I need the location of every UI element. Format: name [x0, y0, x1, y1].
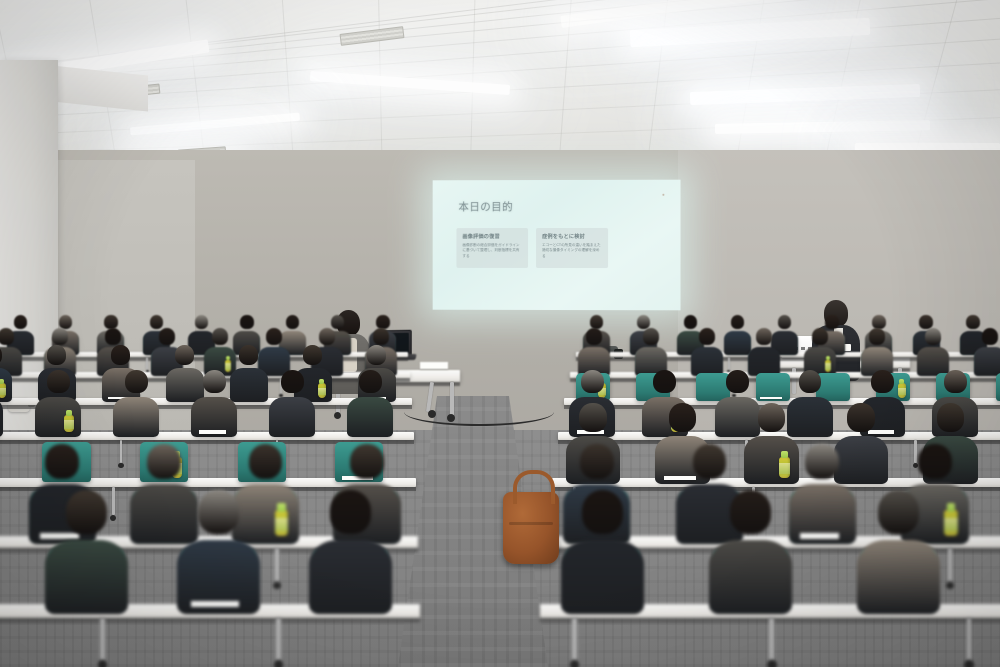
- table-leg: [572, 618, 577, 660]
- audience-head: [66, 490, 108, 533]
- audience-head: [799, 370, 822, 394]
- paper-sheet: [420, 362, 448, 369]
- audience-torso: [230, 368, 268, 402]
- audience-torso: [787, 397, 833, 437]
- table-leg: [120, 440, 123, 463]
- audience-head: [982, 328, 998, 345]
- audience-head: [869, 328, 885, 345]
- slide-card: 画像評価の復習 画像診断の総合評価をガイドラインに基づいて整理し、判断指標を共有…: [456, 228, 528, 268]
- audience-torso: [35, 397, 81, 437]
- table-wheel: [570, 660, 580, 667]
- table-leg: [112, 487, 115, 514]
- audience-head: [367, 345, 386, 365]
- seminar-room-photo: 本日の目的 画像評価の復習 画像診断の総合評価をガイドラインに基づいて整理し、判…: [0, 0, 1000, 667]
- audience-head: [944, 370, 967, 394]
- audience-head: [175, 345, 194, 365]
- audience-torso: [691, 347, 723, 376]
- audience-head: [590, 315, 604, 329]
- audience-torso: [45, 540, 128, 614]
- table-leg: [967, 618, 972, 660]
- table-wheel: [98, 660, 108, 667]
- audience-head: [239, 345, 258, 365]
- audience-head: [14, 315, 28, 329]
- audience-head: [919, 315, 933, 329]
- audience-head: [373, 328, 389, 345]
- audience-head: [730, 490, 772, 533]
- green-tea-bottle: [825, 356, 831, 372]
- table-wheel: [964, 660, 974, 667]
- audience-head: [579, 403, 606, 431]
- audience-head: [59, 315, 73, 329]
- table-leg: [769, 618, 774, 660]
- audience-head: [331, 315, 345, 329]
- green-tea-bottle: [318, 379, 326, 398]
- audience-head: [286, 315, 300, 329]
- table-wheel: [946, 582, 954, 590]
- handout-paper: [664, 476, 696, 480]
- table-wheel: [767, 660, 777, 667]
- audience-torso: [724, 331, 751, 355]
- audience-torso: [166, 368, 204, 402]
- audience-head: [693, 444, 727, 479]
- audience-head: [582, 490, 624, 533]
- audience-head: [52, 328, 68, 345]
- audience-head: [937, 403, 964, 431]
- slide-card-heading: 症例をもとに検討: [542, 233, 585, 240]
- audience-torso: [744, 436, 799, 484]
- table-leg: [100, 618, 105, 660]
- table-leg: [728, 357, 730, 371]
- audience-head: [643, 328, 659, 345]
- handout-paper: [868, 430, 894, 434]
- green-tea-bottle: [64, 410, 73, 432]
- audience-torso: [347, 397, 393, 437]
- audience-head: [47, 345, 66, 365]
- audience-head: [195, 315, 209, 329]
- audience-head: [303, 345, 322, 365]
- green-tea-bottle: [944, 503, 957, 536]
- green-tea-bottle: [0, 379, 6, 398]
- audience-head: [104, 315, 118, 329]
- audience-head: [47, 370, 70, 394]
- audience-torso: [834, 436, 889, 484]
- audience-head: [281, 370, 304, 394]
- table-wheel: [274, 660, 284, 667]
- audience-head: [726, 370, 749, 394]
- green-tea-bottle: [225, 356, 231, 372]
- slide-title: 本日の目的: [458, 199, 513, 214]
- audience-torso: [974, 347, 1000, 376]
- audience-head: [159, 328, 175, 345]
- table-wheel: [273, 582, 281, 590]
- audience-torso: [561, 540, 644, 614]
- table-leg: [948, 548, 952, 582]
- slide-card-body: 画像診断の総合評価をガイドラインに基づいて整理し、判断指標を共有する: [462, 243, 522, 259]
- audience-head: [266, 328, 282, 345]
- audience-head: [580, 444, 614, 479]
- audience-head: [756, 328, 772, 345]
- audience-head: [684, 315, 698, 329]
- audience-head: [918, 444, 952, 479]
- table-leg: [914, 440, 917, 463]
- audience-head: [111, 345, 130, 365]
- audience-head: [586, 328, 602, 345]
- audience-head: [198, 490, 240, 533]
- audience-head: [805, 444, 839, 479]
- table-wheel: [447, 414, 455, 422]
- handout-paper: [800, 533, 839, 538]
- audience-head: [249, 444, 283, 479]
- projected-slide: 本日の目的 画像評価の復習 画像診断の総合評価をガイドラインに基づいて整理し、判…: [433, 180, 681, 311]
- audience-head: [699, 328, 715, 345]
- green-tea-bottle: [275, 503, 288, 536]
- table-leg: [450, 382, 454, 416]
- slide-card-body: エコーとCTの所見の違いを踏まえた適切な撮像タイミングの理解を深める: [542, 243, 602, 259]
- audience-head: [376, 315, 390, 329]
- audience-head: [653, 370, 676, 394]
- table-wheel: [118, 463, 123, 468]
- audience-torso: [748, 347, 780, 376]
- audience-head: [878, 490, 920, 533]
- audience-torso: [269, 397, 315, 437]
- audience-torso: [113, 397, 159, 437]
- table-wheel: [334, 412, 341, 419]
- audience-head: [778, 315, 792, 329]
- audience-head: [847, 403, 874, 431]
- table-leg: [275, 548, 279, 582]
- audience-head: [0, 328, 14, 345]
- audience-head: [731, 315, 745, 329]
- table-wheel: [428, 410, 436, 418]
- audience-head: [105, 328, 121, 345]
- audience-head: [125, 370, 148, 394]
- leather-bag: [503, 492, 559, 564]
- handout-paper: [760, 397, 782, 400]
- audience-head: [150, 315, 164, 329]
- audience-torso: [232, 484, 300, 544]
- screen-blemish: [662, 194, 664, 196]
- handout-paper: [40, 533, 79, 538]
- audience-head: [812, 328, 828, 345]
- handout-paper: [191, 601, 239, 607]
- audience-head: [825, 315, 839, 329]
- audience-head: [871, 370, 894, 394]
- audience-head: [359, 370, 382, 394]
- audience-head: [581, 370, 604, 394]
- audience-head: [872, 315, 886, 329]
- audience-torso: [709, 540, 792, 614]
- audience-head: [147, 444, 181, 479]
- audience-head: [669, 403, 696, 431]
- green-tea-bottle: [779, 451, 790, 478]
- audience-head: [319, 328, 335, 345]
- audience-head: [240, 315, 254, 329]
- audience-head: [758, 403, 785, 431]
- audience-head: [330, 490, 372, 533]
- table-leg: [276, 618, 281, 660]
- audience-head: [350, 444, 384, 479]
- audience-torso: [857, 540, 940, 614]
- audience-head: [925, 328, 941, 345]
- handout-paper: [199, 430, 225, 434]
- audience-head: [45, 444, 79, 479]
- slide-card-heading: 画像評価の復習: [462, 233, 499, 240]
- audience-head: [203, 370, 226, 394]
- slide-card: 症例をもとに検討 エコーとCTの所見の違いを踏まえた適切な撮像タイミングの理解を…: [536, 228, 608, 268]
- green-tea-bottle: [898, 379, 906, 398]
- audience-head: [212, 328, 228, 345]
- audience-torso: [309, 540, 392, 614]
- audience-torso: [715, 397, 761, 437]
- projection-screen: 本日の目的 画像評価の復習 画像診断の総合評価をガイドラインに基づいて整理し、判…: [432, 180, 680, 310]
- audience-torso: [130, 484, 198, 544]
- audience-torso: [917, 347, 949, 376]
- audience-head: [637, 315, 651, 329]
- audience-head: [966, 315, 980, 329]
